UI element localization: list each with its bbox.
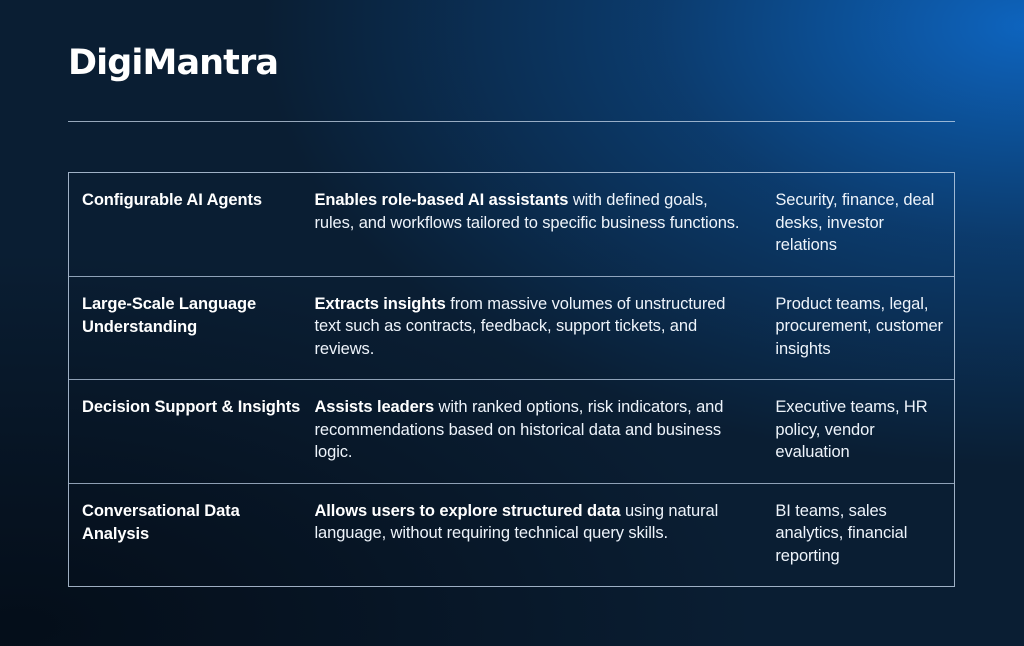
users-cell: BI teams, sales analytics, financial rep… bbox=[775, 484, 954, 587]
feature-cell: Decision Support & Insights bbox=[69, 380, 314, 438]
feature-description: Allows users to explore structured data … bbox=[314, 500, 751, 545]
table-row: Configurable AI Agents Enables role-base… bbox=[69, 173, 954, 276]
description-cell: Extracts insights from massive volumes o… bbox=[314, 277, 775, 380]
feature-description: Extracts insights from massive volumes o… bbox=[314, 293, 751, 361]
table-row: Conversational Data Analysis Allows user… bbox=[69, 483, 954, 587]
users-cell: Executive teams, HR policy, vendor evalu… bbox=[775, 380, 954, 483]
feature-title: Conversational Data Analysis bbox=[82, 500, 304, 546]
brand-logo-prefix: Digi bbox=[68, 43, 143, 83]
feature-cell: Conversational Data Analysis bbox=[69, 484, 314, 565]
description-lead: Assists leaders bbox=[314, 398, 434, 416]
feature-cell: Configurable AI Agents bbox=[69, 173, 314, 231]
table-row: Decision Support & Insights Assists lead… bbox=[69, 379, 954, 483]
brand-logo-suffix: Mantra bbox=[143, 43, 279, 83]
header-divider bbox=[68, 121, 955, 122]
feature-users: Security, finance, deal desks, investor … bbox=[775, 189, 944, 257]
feature-title: Decision Support & Insights bbox=[82, 396, 304, 419]
feature-title: Configurable AI Agents bbox=[82, 189, 304, 212]
description-cell: Allows users to explore structured data … bbox=[314, 484, 775, 564]
users-cell: Product teams, legal, procurement, custo… bbox=[775, 277, 954, 380]
brand-logo: DigiMantra bbox=[68, 41, 278, 85]
description-lead: Allows users to explore structured data bbox=[314, 502, 620, 520]
feature-description: Assists leaders with ranked options, ris… bbox=[314, 396, 751, 464]
feature-users: Product teams, legal, procurement, custo… bbox=[775, 293, 944, 361]
description-lead: Extracts insights bbox=[314, 295, 445, 313]
description-cell: Enables role-based AI assistants with de… bbox=[314, 173, 775, 253]
description-lead: Enables role-based AI assistants bbox=[314, 191, 568, 209]
feature-cell: Large-Scale Language Understanding bbox=[69, 277, 314, 358]
feature-description: Enables role-based AI assistants with de… bbox=[314, 189, 751, 234]
feature-table: Configurable AI Agents Enables role-base… bbox=[68, 172, 955, 587]
feature-users: BI teams, sales analytics, financial rep… bbox=[775, 500, 944, 568]
feature-users: Executive teams, HR policy, vendor evalu… bbox=[775, 396, 944, 464]
users-cell: Security, finance, deal desks, investor … bbox=[775, 173, 954, 276]
description-cell: Assists leaders with ranked options, ris… bbox=[314, 380, 775, 483]
table-row: Large-Scale Language Understanding Extra… bbox=[69, 276, 954, 380]
feature-title: Large-Scale Language Understanding bbox=[82, 293, 304, 339]
